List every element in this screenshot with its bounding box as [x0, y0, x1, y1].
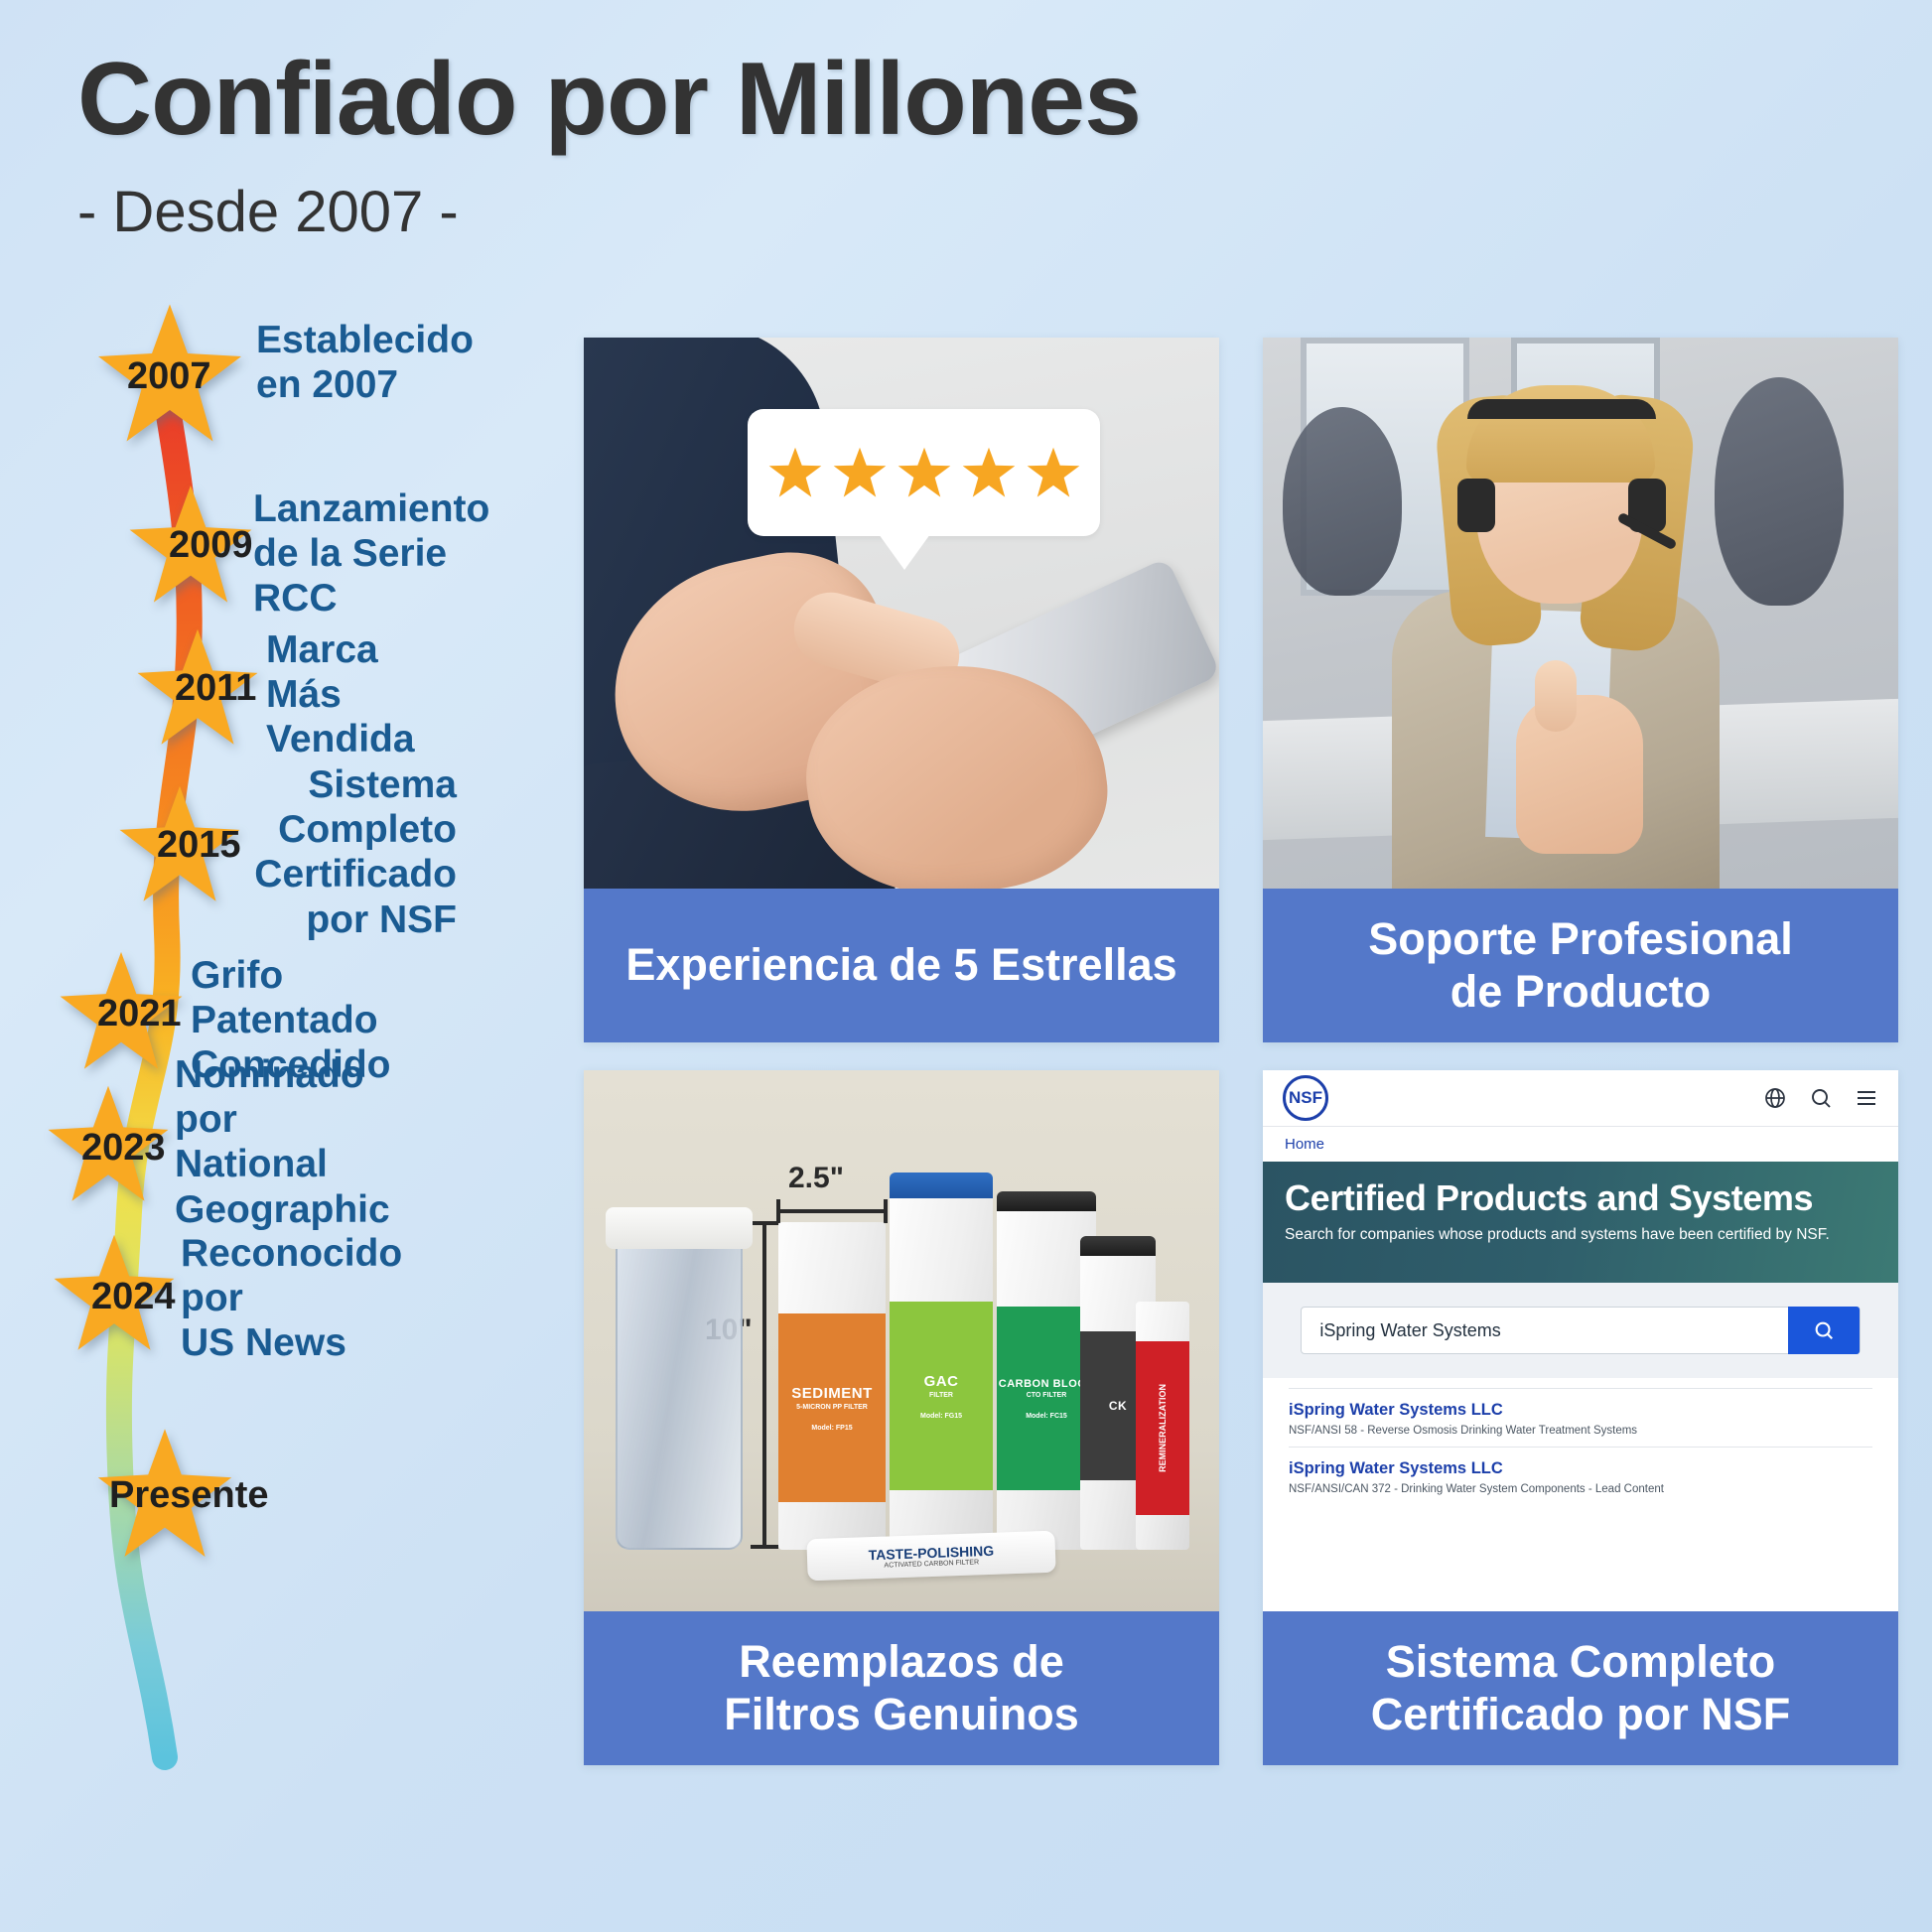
nsf-hero-text: Search for companies whose products and …: [1285, 1225, 1876, 1246]
dimension-height-tick: [751, 1221, 778, 1225]
filter-cartridge-remineralization: REMINERALIZATION: [1136, 1302, 1189, 1550]
timeline-label: Nominado por National Geographic: [175, 1052, 390, 1232]
card-caption: Soporte Profesional de Producto: [1263, 889, 1898, 1042]
cartridge-name: GAC: [924, 1373, 959, 1390]
timeline-year: 2015: [157, 824, 241, 867]
header: Confiado por Millones - Desde 2007 -: [77, 48, 1141, 245]
dimension-width-tick: [884, 1199, 888, 1223]
timeline-year: 2007: [127, 355, 211, 398]
cartridge-model: Model: FC15: [1026, 1413, 1067, 1420]
cartridge-label: REMINERALIZATION: [1136, 1341, 1189, 1515]
card-caption: Sistema Completo Certificado por NSF: [1263, 1611, 1898, 1765]
timeline-year: 2011: [175, 667, 256, 710]
cartridge-blue-cap: [890, 1173, 993, 1198]
filter-cartridge-gac: GAC FILTER Model: FG15: [890, 1192, 993, 1550]
search-input[interactable]: iSpring Water Systems: [1301, 1307, 1860, 1354]
star-icon: [1026, 445, 1081, 500]
dimension-width-tick: [776, 1199, 780, 1223]
rating-bubble: [748, 409, 1100, 536]
search-button[interactable]: [1788, 1307, 1860, 1354]
menu-icon[interactable]: [1855, 1086, 1878, 1110]
breadcrumb[interactable]: Home: [1263, 1126, 1898, 1162]
card-caption: Reemplazos de Filtros Genuinos: [584, 1611, 1219, 1765]
cartridge-name: CK: [1109, 1399, 1127, 1413]
decor-background-person: [1283, 407, 1402, 596]
timeline-year: 2021: [97, 993, 182, 1035]
star-icon: [832, 445, 888, 500]
headset-earcup: [1457, 479, 1495, 532]
dimension-width-line: [778, 1209, 888, 1213]
card-nsf[interactable]: NSF Home Certified Products and Systems: [1263, 1070, 1898, 1765]
timeline-year: Presente: [109, 1474, 269, 1517]
cartridge-sub: 5-MICRON PP FILTER: [796, 1404, 868, 1411]
result-subtitle: NSF/ANSI/CAN 372 - Drinking Water System…: [1289, 1483, 1872, 1495]
timeline-label: Reconocido por US News: [181, 1231, 402, 1366]
dimension-height-tick: [751, 1545, 778, 1549]
infographic-page: Confiado por Millones - Desde 2007 -: [0, 0, 1932, 1932]
list-item[interactable]: iSpring Water Systems LLC NSF/ANSI 58 - …: [1289, 1388, 1872, 1447]
filter-cartridge-sediment: SEDIMENT 5-MICRON PP FILTER Model: FP15: [778, 1222, 886, 1550]
dimension-height-line: [762, 1221, 766, 1549]
nsf-search-area: iSpring Water Systems: [1263, 1283, 1898, 1378]
star-icon: [961, 445, 1017, 500]
nsf-results-list: iSpring Water Systems LLC NSF/ANSI 58 - …: [1263, 1378, 1898, 1505]
filter-housing-cap: [606, 1207, 753, 1249]
card-photo-filters: 2.5" 10" SEDIMENT 5-MICRON PP FILTER Mod…: [584, 1070, 1219, 1611]
timeline-label: Establecido en 2007: [256, 318, 474, 407]
timeline-label: Marca Más Vendida: [266, 627, 415, 762]
result-title: iSpring Water Systems LLC: [1289, 1459, 1872, 1478]
card-photo-support: [1263, 338, 1898, 889]
decor-background-person: [1715, 377, 1844, 606]
result-title: iSpring Water Systems LLC: [1289, 1401, 1872, 1420]
nsf-hero-title: Certified Products and Systems: [1285, 1177, 1876, 1219]
search-input-value: iSpring Water Systems: [1302, 1320, 1787, 1341]
star-icon: [767, 445, 823, 500]
cartridge-sub: FILTER: [929, 1392, 953, 1399]
timeline-year: 2009: [169, 524, 253, 567]
cartridge-sub: CTO FILTER: [1027, 1392, 1067, 1399]
star-icon: [897, 445, 952, 500]
timeline-year: 2023: [81, 1127, 166, 1170]
card-photo-nsf: NSF Home Certified Products and Systems: [1263, 1070, 1898, 1611]
inline-filter: TASTE-POLISHING ACTIVATED CARBON FILTER: [806, 1531, 1055, 1582]
decor-thumb: [1535, 660, 1577, 732]
nsf-topbar-icons: [1763, 1086, 1878, 1110]
dimension-width-label: 2.5": [788, 1162, 844, 1195]
list-item[interactable]: iSpring Water Systems LLC NSF/ANSI/CAN 3…: [1289, 1447, 1872, 1505]
card-caption: Experiencia de 5 Estrellas: [584, 889, 1219, 1042]
cartridge-model: Model: FP15: [811, 1425, 852, 1432]
timeline-label: Lanzamiento de la Serie RCC: [253, 486, 489, 621]
cartridge-black-cap: [1080, 1236, 1156, 1256]
card-filters[interactable]: 2.5" 10" SEDIMENT 5-MICRON PP FILTER Mod…: [584, 1070, 1219, 1765]
search-icon[interactable]: [1809, 1086, 1833, 1110]
nsf-topbar: NSF: [1263, 1070, 1898, 1126]
cartridge-model: Model: FG15: [920, 1413, 962, 1420]
result-subtitle: NSF/ANSI 58 - Reverse Osmosis Drinking W…: [1289, 1425, 1872, 1437]
card-reviews[interactable]: Experiencia de 5 Estrellas: [584, 338, 1219, 1042]
globe-icon[interactable]: [1763, 1086, 1787, 1110]
timeline-year: 2024: [91, 1276, 176, 1318]
page-subtitle: - Desde 2007 -: [77, 179, 1141, 245]
headset-icon: [1467, 399, 1656, 419]
cartridge-label: GAC FILTER Model: FG15: [890, 1302, 993, 1490]
timeline: 2007 Establecido en 2007 2009 Lanzamient…: [69, 298, 596, 1866]
search-icon: [1813, 1319, 1835, 1341]
nsf-hero: Certified Products and Systems Search fo…: [1263, 1162, 1898, 1283]
cartridge-name: SEDIMENT: [791, 1385, 873, 1402]
card-photo-reviews: [584, 338, 1219, 889]
card-support[interactable]: Soporte Profesional de Producto: [1263, 338, 1898, 1042]
cartridge-black-cap: [997, 1191, 1096, 1211]
cartridge-name: REMINERALIZATION: [1158, 1384, 1168, 1472]
cartridge-label: SEDIMENT 5-MICRON PP FILTER Model: FP15: [778, 1313, 886, 1502]
nsf-logo[interactable]: NSF: [1283, 1075, 1328, 1121]
page-title: Confiado por Millones: [77, 48, 1141, 151]
decor-thumbs-up-hand: [1516, 695, 1643, 854]
filter-housing: [616, 1242, 743, 1550]
